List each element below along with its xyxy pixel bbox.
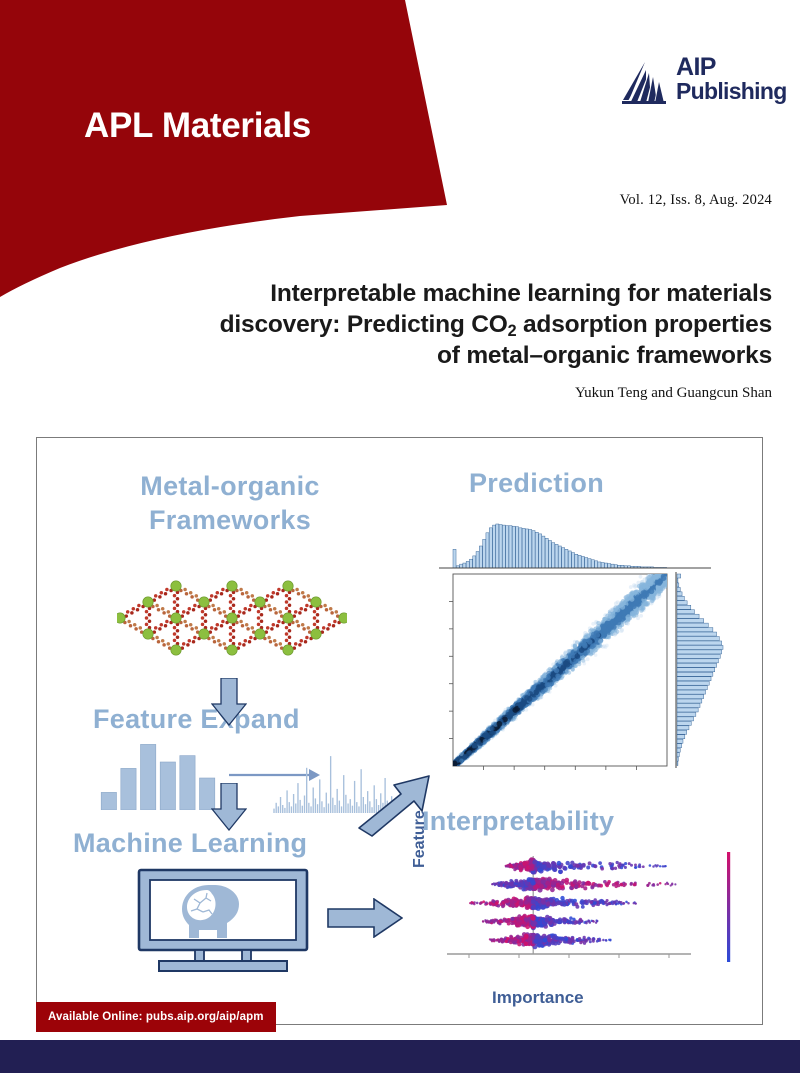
article-title-line-2b: adsorption properties — [516, 311, 772, 338]
right-arrow-icon — [327, 898, 403, 938]
figure-label-prediction: Prediction — [469, 468, 604, 499]
article-title: Interpretable machine learning for mater… — [132, 278, 772, 371]
available-online-badge: Available Online: pubs.aip.org/aip/apm — [36, 1002, 276, 1032]
article-title-line-3: of metal–organic frameworks — [132, 340, 772, 371]
figure-label-mof: Metal-organic Frameworks — [95, 470, 365, 538]
red-banner-shape — [0, 0, 447, 297]
cover-figure: Metal-organic Frameworks Feature Expand … — [36, 437, 763, 1025]
article-title-line-1: Interpretable machine learning for mater… — [132, 278, 772, 309]
volume-issue-line: Vol. 12, Iss. 8, Aug. 2024 — [620, 192, 772, 209]
feature-bar-chart — [99, 738, 217, 810]
monitor-with-brain-head-icon — [137, 868, 309, 972]
figure-label-interpretability: Interpretability — [422, 806, 614, 837]
aip-logo-text: AIP Publishing — [676, 55, 787, 102]
prediction-jointplot — [409, 506, 729, 796]
header-red-banner — [0, 0, 460, 300]
down-arrow-icon-1 — [211, 678, 247, 726]
mof-label-line2: Frameworks — [95, 504, 365, 538]
aip-fan-icon — [619, 60, 671, 108]
mof-rhombus-lattice-icon — [117, 553, 347, 683]
article-authors: Yukun Teng and Guangcun Shan — [132, 385, 772, 402]
article-title-line-2a: discovery: Predicting CO — [220, 311, 508, 338]
aip-logo-line1: AIP — [676, 55, 787, 80]
mof-label-line1: Metal-organic — [95, 470, 365, 504]
aip-publishing-logo: AIP Publishing — [619, 58, 779, 112]
figure-label-machine-learning: Machine Learning — [73, 828, 307, 859]
aip-logo-line2: Publishing — [676, 80, 787, 103]
co2-subscript: 2 — [508, 322, 517, 340]
interpretability-shap-beeswarm — [433, 850, 743, 978]
footer-navy-bar — [0, 1040, 800, 1073]
article-title-line-2: discovery: Predicting CO2 adsorption pro… — [132, 309, 772, 340]
figure-label-feature-expand: Feature Expand — [93, 704, 300, 735]
journal-cover: APL Materials AIP Publishing Vol. 12, Is… — [0, 0, 800, 1073]
journal-title: APL Materials — [84, 106, 311, 146]
shap-x-axis-label: Importance — [492, 988, 584, 1008]
down-arrow-icon-2 — [211, 783, 247, 831]
